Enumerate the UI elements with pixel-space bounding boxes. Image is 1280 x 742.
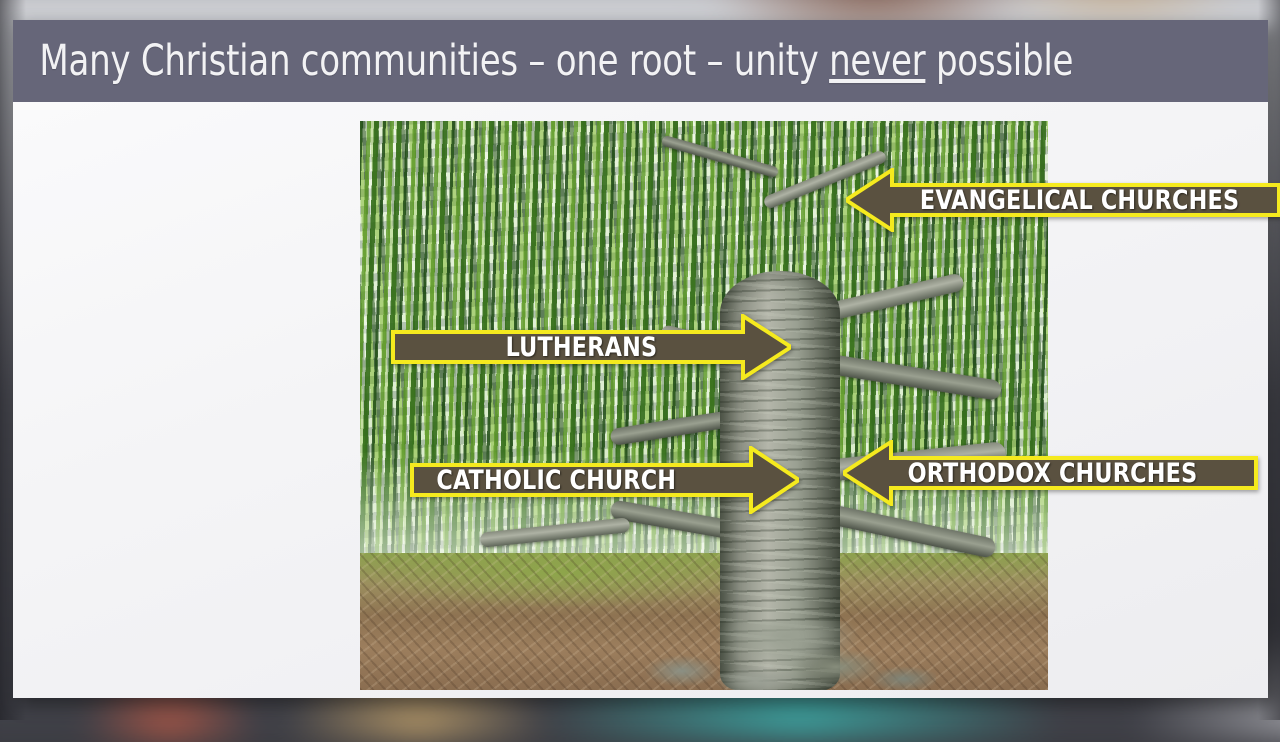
- slide-title-bar: Many Christian communities – one root – …: [13, 20, 1268, 102]
- callout-label-catholic: CATHOLIC CHURCH: [436, 465, 676, 496]
- title-emphasis: never: [829, 36, 925, 86]
- tree-roots: [646, 621, 936, 690]
- callout-arrow-orthodox[interactable]: ORTHODOX CHURCHES: [843, 440, 1258, 506]
- callout-arrow-lutherans[interactable]: LUTHERANS: [391, 314, 791, 380]
- callout-label-orthodox: ORTHODOX CHURCHES: [908, 458, 1198, 489]
- callout-label-lutherans: LUTHERANS: [506, 332, 658, 363]
- title-prefix: Many Christian communities – one root – …: [39, 36, 829, 86]
- callout-label-evangelical: EVANGELICAL CHURCHES: [920, 185, 1239, 216]
- title-suffix: possible: [925, 36, 1073, 86]
- callout-arrow-evangelical[interactable]: EVANGELICAL CHURCHES: [846, 168, 1280, 232]
- presentation-slide: Many Christian communities – one root – …: [13, 20, 1268, 698]
- callout-arrow-catholic[interactable]: CATHOLIC CHURCH: [410, 446, 799, 514]
- page-title: Many Christian communities – one root – …: [13, 36, 1073, 86]
